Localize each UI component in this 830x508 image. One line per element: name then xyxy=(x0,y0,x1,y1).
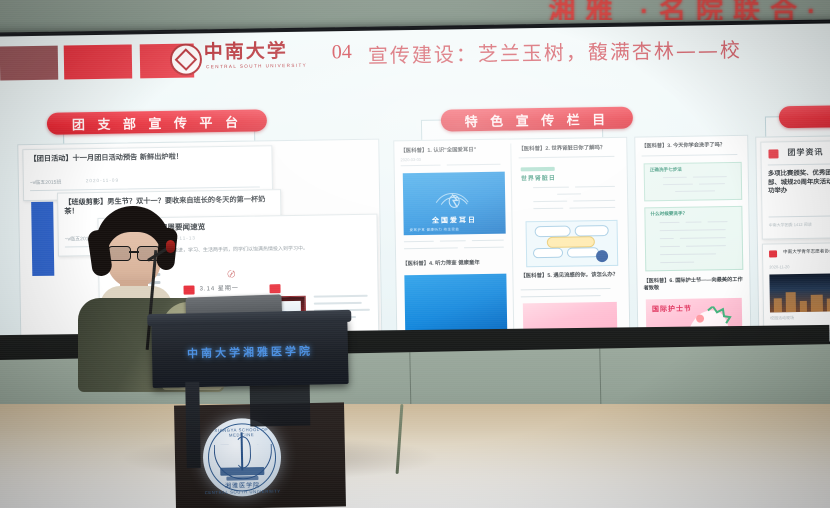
news-tag-icon xyxy=(769,250,777,257)
venue-banner-text: 湘雅 ·名院联合· xyxy=(0,0,830,20)
microphone-head-icon xyxy=(166,240,175,253)
news-header-title: 团学资讯 xyxy=(787,147,823,159)
article-1-meta: 2020-11-09 xyxy=(86,178,119,184)
article-handwash-section-b: 什么时候要洗手？ xyxy=(650,211,687,218)
article-earday-title: 【医科普】1. 认识"全国爱耳日" xyxy=(400,145,504,155)
poster-hearing-screening xyxy=(404,274,507,334)
news-article-2-title: 中南大学青年志愿者协会 xyxy=(783,248,830,255)
title-block-red-1 xyxy=(64,44,133,79)
xiangya-medical-emblem-icon: XIANGYA SCHOOL OF MEDICINE 湘雅医学院 CENTRAL… xyxy=(202,418,281,497)
article-kidney-title: 【医科普】2. 世界肾脏日你了解吗？ xyxy=(518,143,620,153)
poster-ear-caption: 全国爱耳日 xyxy=(432,215,477,226)
article-handwash-section-a: 正确洗手七步法 xyxy=(650,167,682,174)
column-divider xyxy=(510,144,514,336)
article-flu-title: 【医科普】5. 遇见流感的你，该怎么办？ xyxy=(520,270,622,280)
article-earday-meta: 2020-03-03 xyxy=(400,157,421,162)
news-article-1-meta: 中南大学团委 1412 阅读 xyxy=(769,222,812,229)
blue-accent-bar xyxy=(31,202,54,276)
presentation-room-photo: 湘雅 ·名院联合· 中南大学 CENTRAL SOUTH UNIVERSITY … xyxy=(0,0,830,508)
badge-third: 新 xyxy=(779,104,830,128)
podium: 中南大学湘雅医学院 xyxy=(151,318,348,388)
column-special-columns: 【医科普】1. 认识"全国爱耳日" 2020-03-03 全国爱耳日 爱耳护耳 … xyxy=(393,137,630,343)
news-header-card: 团学资讯 多项比赛颁奖、优秀团支部、城规20周年庆活动成功举办 中南大学团委 1… xyxy=(760,140,830,239)
news-article-1-title: 多项比赛颁奖、优秀团支部、城规20周年庆活动成功举办 xyxy=(768,169,830,196)
badge-tuanzhibu-platform: 团 支 部 宣 传 平 台 xyxy=(47,109,267,134)
emblem-english-bottom: CENTRAL SOUTH UNIVERSITY xyxy=(204,489,282,495)
news-article-2-caption: 校园活动现场 xyxy=(770,315,794,321)
tag-red-right xyxy=(269,284,280,293)
cartoon-illustration-kidney xyxy=(526,220,619,267)
handwash-when-box: 什么时候要洗手？ xyxy=(644,206,743,272)
column-special-columns-right: 【医科普】3. 今天你学会洗手了吗？ 正确洗手七步法 什么时候要洗手？ xyxy=(634,135,751,337)
article-handwash-title: 【医科普】3. 今天你学会洗手了吗？ xyxy=(641,141,742,150)
podium-column xyxy=(185,382,200,468)
slide-section-number: 04 xyxy=(332,41,352,64)
decorative-glyph: 〄 xyxy=(227,269,235,280)
ear-sound-icon xyxy=(432,188,476,213)
podium-nameplate: 中南大学湘雅医学院 xyxy=(152,342,348,362)
university-name-cn: 中南大学 xyxy=(204,41,288,62)
news-article-2-meta: 2020-11-20 xyxy=(769,264,789,269)
slide-heading: 宣传建设：芝兰玉树，馥满杏林——校 xyxy=(368,34,742,69)
podium-base-rear xyxy=(250,381,311,426)
article-nurseday-title: 【医科普】6. 国际护士节——向最美的工作者致敬 xyxy=(643,276,744,292)
article-kidney-section: 世界肾脏日 xyxy=(521,173,556,183)
article-1-author: ~v临五2015班 xyxy=(30,179,62,186)
news-article-card-2: 中南大学青年志愿者协会 2020-11-20 校园活动现场 xyxy=(762,242,830,331)
badge-special-columns: 特 色 宣 传 栏 目 xyxy=(441,107,633,132)
cartoon-figure-head xyxy=(596,250,608,262)
section-accent xyxy=(521,167,555,172)
column-tuanxue-news: 团学资讯 多项比赛颁奖、优秀团支部、城规20周年庆活动成功举办 中南大学团委 1… xyxy=(755,135,830,334)
title-block-dark xyxy=(0,46,58,81)
news-header-icon xyxy=(768,149,778,158)
news-event-photo xyxy=(769,273,830,312)
poster-ear-subcaption: 爱耳护耳 健康听力 终生受益 xyxy=(410,226,460,232)
article-hearing-title: 【医科普】4. 听力筛查 健康童年 xyxy=(402,258,506,268)
handwash-steps-box: 正确洗手七步法 xyxy=(644,162,743,202)
article-1-title: 【团日活动】十一月团日活动预告 新鲜出炉啦！ xyxy=(29,151,266,164)
